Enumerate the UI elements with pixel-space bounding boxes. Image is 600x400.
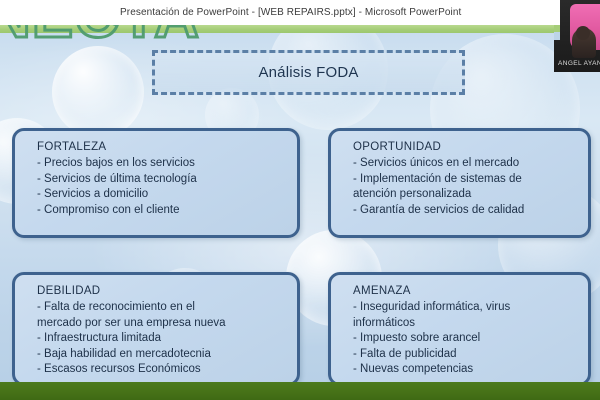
list-item: - Baja habilidad en mercadotecnia xyxy=(37,347,285,363)
page-title: Análisis FODA xyxy=(258,64,358,81)
quadrant-title: DEBILIDAD xyxy=(37,285,285,297)
quadrant-amenaza[interactable]: AMENAZA - Inseguridad informática, virus… xyxy=(328,272,591,386)
list-item: - Implementación de sistemas de atención… xyxy=(353,172,576,203)
list-item: - Compromiso con el cliente xyxy=(37,203,285,219)
list-item: - Falta de publicidad xyxy=(353,347,576,363)
screenshot-root: NECTA Presentación de PowerPoint - [WEB … xyxy=(0,0,600,400)
quadrant-list: - Inseguridad informática, virus informá… xyxy=(353,300,576,378)
quadrant-title: OPORTUNIDAD xyxy=(353,141,576,153)
quadrant-debilidad[interactable]: DEBILIDAD - Falta de reconocimiento en e… xyxy=(12,272,300,386)
list-item: - Garantía de servicios de calidad xyxy=(353,203,576,219)
quadrant-title: AMENAZA xyxy=(353,285,576,297)
list-item: - Servicios únicos en el mercado xyxy=(353,156,576,172)
footer-green-band xyxy=(0,382,600,400)
webcam-edge-strip xyxy=(554,0,560,40)
list-item: - Escasos recursos Económicos xyxy=(37,362,285,378)
list-item: - Nuevas competencias xyxy=(353,362,576,378)
list-item: - Inseguridad informática, virus informá… xyxy=(353,300,576,331)
webcam-overlay[interactable]: ANGEL AYAN xyxy=(554,0,600,72)
powerpoint-titlebar: Presentación de PowerPoint - [WEB REPAIR… xyxy=(0,0,600,25)
participant-name-label: ANGEL AYAN xyxy=(554,60,600,67)
quadrant-list: - Servicios únicos en el mercado - Imple… xyxy=(353,156,576,218)
list-item: - Servicios de última tecnología xyxy=(37,172,285,188)
list-item: - Infraestructura limitada xyxy=(37,331,285,347)
window-title: Presentación de PowerPoint - [WEB REPAIR… xyxy=(120,7,461,18)
quadrant-list: - Falta de reconocimiento en el mercado … xyxy=(37,300,285,378)
webcam-person-head xyxy=(576,26,590,40)
quadrant-list: - Precios bajos en los servicios - Servi… xyxy=(37,156,285,218)
slide-title-box[interactable]: Análisis FODA xyxy=(152,50,465,95)
list-item: - Impuesto sobre arancel xyxy=(353,331,576,347)
quadrant-title: FORTALEZA xyxy=(37,141,285,153)
banner-green-band xyxy=(0,25,600,33)
quadrant-fortaleza[interactable]: FORTALEZA - Precios bajos en los servici… xyxy=(12,128,300,238)
quadrant-oportunidad[interactable]: OPORTUNIDAD - Servicios únicos en el mer… xyxy=(328,128,591,238)
list-item: - Falta de reconocimiento en el mercado … xyxy=(37,300,285,331)
list-item: - Servicios a domicilio xyxy=(37,187,285,203)
list-item: - Precios bajos en los servicios xyxy=(37,156,285,172)
